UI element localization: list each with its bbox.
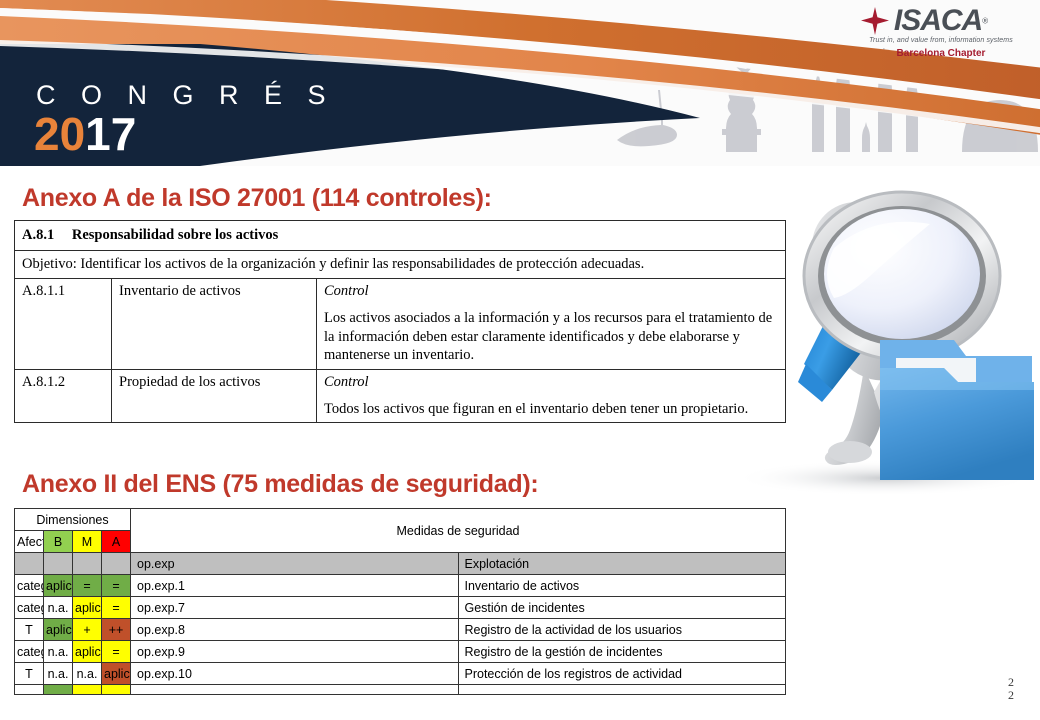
ens-group-blank-1 bbox=[15, 553, 44, 575]
ens-header-dimensiones: Dimensiones bbox=[15, 509, 131, 531]
table-row: categoría n.a. aplica = op.exp.7 Gestión… bbox=[15, 597, 786, 619]
ens-cut-a bbox=[102, 685, 131, 695]
ens-cell-m: + bbox=[73, 619, 102, 641]
ens-cell-b: aplica bbox=[44, 619, 73, 641]
iso-clause-row: A.8.1 Responsabilidad sobre los activos bbox=[15, 221, 786, 251]
table-row: A.8.1.2 Propiedad de los activos Control… bbox=[15, 369, 786, 423]
iso-control-label: Control bbox=[324, 374, 778, 391]
ens-cut-b bbox=[44, 685, 73, 695]
ens-measure-name: Gestión de incidentes bbox=[458, 597, 786, 619]
iso-control-label: Control bbox=[324, 283, 778, 300]
ens-cut-code bbox=[131, 685, 459, 695]
iso-clause-cell: A.8.1 Responsabilidad sobre los activos bbox=[15, 221, 786, 251]
isaca-tagline: Trust in, and value from, information sy… bbox=[856, 37, 1026, 44]
ens-header-row-1: Dimensiones Medidas de seguridad bbox=[15, 509, 786, 531]
blue-folder bbox=[880, 340, 1034, 480]
ens-group-blank-2 bbox=[44, 553, 73, 575]
table-row: T aplica + ++ op.exp.8 Registro de la ac… bbox=[15, 619, 786, 641]
isaca-registered-mark: ® bbox=[982, 17, 988, 26]
ens-cell-b: aplica bbox=[44, 575, 73, 597]
isaca-star-icon bbox=[860, 6, 890, 36]
isaca-wordmark: ISACA® bbox=[856, 4, 1026, 36]
ens-cut-afectadas bbox=[15, 685, 44, 695]
iso-control-id: A.8.1.1 bbox=[15, 279, 112, 370]
isaca-logo: ISACA® Trust in, and value from, informa… bbox=[856, 4, 1026, 59]
ens-level-a: A bbox=[102, 531, 131, 553]
isaca-chapter: Barcelona Chapter bbox=[856, 48, 1026, 59]
ens-measure-name: Inventario de activos bbox=[458, 575, 786, 597]
ens-annex-ii-table: Dimensiones Medidas de seguridad Afectad… bbox=[14, 508, 786, 695]
iso-control-id: A.8.1.2 bbox=[15, 369, 112, 423]
ens-header-afectadas: Afectadas bbox=[15, 531, 44, 553]
ens-cell-a: = bbox=[102, 575, 131, 597]
header-banner: C O N G R É S 2017 ISACA® Trust in, and … bbox=[0, 0, 1040, 166]
ens-cell-a: = bbox=[102, 641, 131, 663]
iso-control-name: Inventario de activos bbox=[112, 279, 317, 370]
iso-section-title: Anexo A de la ISO 27001 (114 controles): bbox=[22, 184, 492, 213]
iso-clause-code: A.8.1 bbox=[22, 227, 68, 243]
ens-truncated-row bbox=[15, 685, 786, 695]
slide: C O N G R É S 2017 ISACA® Trust in, and … bbox=[0, 0, 1040, 720]
ens-cell-m: = bbox=[73, 575, 102, 597]
table-row: categoría n.a. aplica = op.exp.9 Registr… bbox=[15, 641, 786, 663]
magnifier-person-illustration bbox=[714, 168, 1040, 498]
iso-clause-title: Responsabilidad sobre los activos bbox=[72, 227, 278, 243]
ens-cell-a: ++ bbox=[102, 619, 131, 641]
congress-year: 2017 bbox=[34, 108, 136, 160]
page-number-line2: 2 bbox=[1008, 689, 1014, 702]
ens-measure-code: op.exp.9 bbox=[131, 641, 459, 663]
ens-cell-m: n.a. bbox=[73, 663, 102, 685]
iso-objective-cell: Objetivo: Identificar los activos de la … bbox=[15, 251, 786, 279]
congress-title: C O N G R É S bbox=[36, 80, 335, 111]
ens-cell-b: n.a. bbox=[44, 663, 73, 685]
iso-control-name: Propiedad de los activos bbox=[112, 369, 317, 423]
ens-cell-a: aplica bbox=[102, 663, 131, 685]
year-suffix: 17 bbox=[85, 108, 136, 160]
iso-control-text: Todos los activos que figuran en el inve… bbox=[324, 400, 778, 419]
year-prefix: 20 bbox=[34, 108, 85, 160]
ens-cell-m: aplica bbox=[73, 641, 102, 663]
ens-level-b: B bbox=[44, 531, 73, 553]
ens-measure-code: op.exp.10 bbox=[131, 663, 459, 685]
ens-measure-name: Registro de la gestión de incidentes bbox=[458, 641, 786, 663]
ens-level-m: M bbox=[73, 531, 102, 553]
ens-group-name: Explotación bbox=[458, 553, 786, 575]
ens-afectadas: categoría bbox=[15, 597, 44, 619]
ens-afectadas: categoría bbox=[15, 575, 44, 597]
ens-group-blank-3 bbox=[73, 553, 102, 575]
ens-measure-code: op.exp.8 bbox=[131, 619, 459, 641]
ens-group-blank-4 bbox=[102, 553, 131, 575]
ens-measure-name: Registro de la actividad de los usuarios bbox=[458, 619, 786, 641]
page-number: 2 2 bbox=[1008, 676, 1014, 702]
ens-header-medidas: Medidas de seguridad bbox=[131, 509, 786, 553]
table-row: T n.a. n.a. aplica op.exp.10 Protección … bbox=[15, 663, 786, 685]
table-row: A.8.1.1 Inventario de activos Control Lo… bbox=[15, 279, 786, 370]
magnifier-lens bbox=[804, 192, 1000, 360]
ens-cell-b: n.a. bbox=[44, 641, 73, 663]
iso-control-text: Los activos asociados a la información y… bbox=[324, 309, 778, 365]
ens-group-code: op.exp bbox=[131, 553, 459, 575]
isaca-name: ISACA bbox=[894, 4, 982, 38]
ens-cell-a: = bbox=[102, 597, 131, 619]
ens-group-row: op.exp Explotación bbox=[15, 553, 786, 575]
ens-measure-name: Protección de los registros de actividad bbox=[458, 663, 786, 685]
ens-measure-code: op.exp.7 bbox=[131, 597, 459, 619]
iso-objective-row: Objetivo: Identificar los activos de la … bbox=[15, 251, 786, 279]
ens-measure-code: op.exp.1 bbox=[131, 575, 459, 597]
ens-cut-m bbox=[73, 685, 102, 695]
ens-afectadas: T bbox=[15, 619, 44, 641]
ens-cut-measure bbox=[458, 685, 786, 695]
ens-section-title: Anexo II del ENS (75 medidas de segurida… bbox=[22, 470, 538, 499]
ens-cell-b: n.a. bbox=[44, 597, 73, 619]
iso-annex-a-table: A.8.1 Responsabilidad sobre los activos … bbox=[14, 220, 786, 423]
ens-afectadas: categoría bbox=[15, 641, 44, 663]
ens-afectadas: T bbox=[15, 663, 44, 685]
table-row: categoría aplica = = op.exp.1 Inventario… bbox=[15, 575, 786, 597]
ens-cell-m: aplica bbox=[73, 597, 102, 619]
